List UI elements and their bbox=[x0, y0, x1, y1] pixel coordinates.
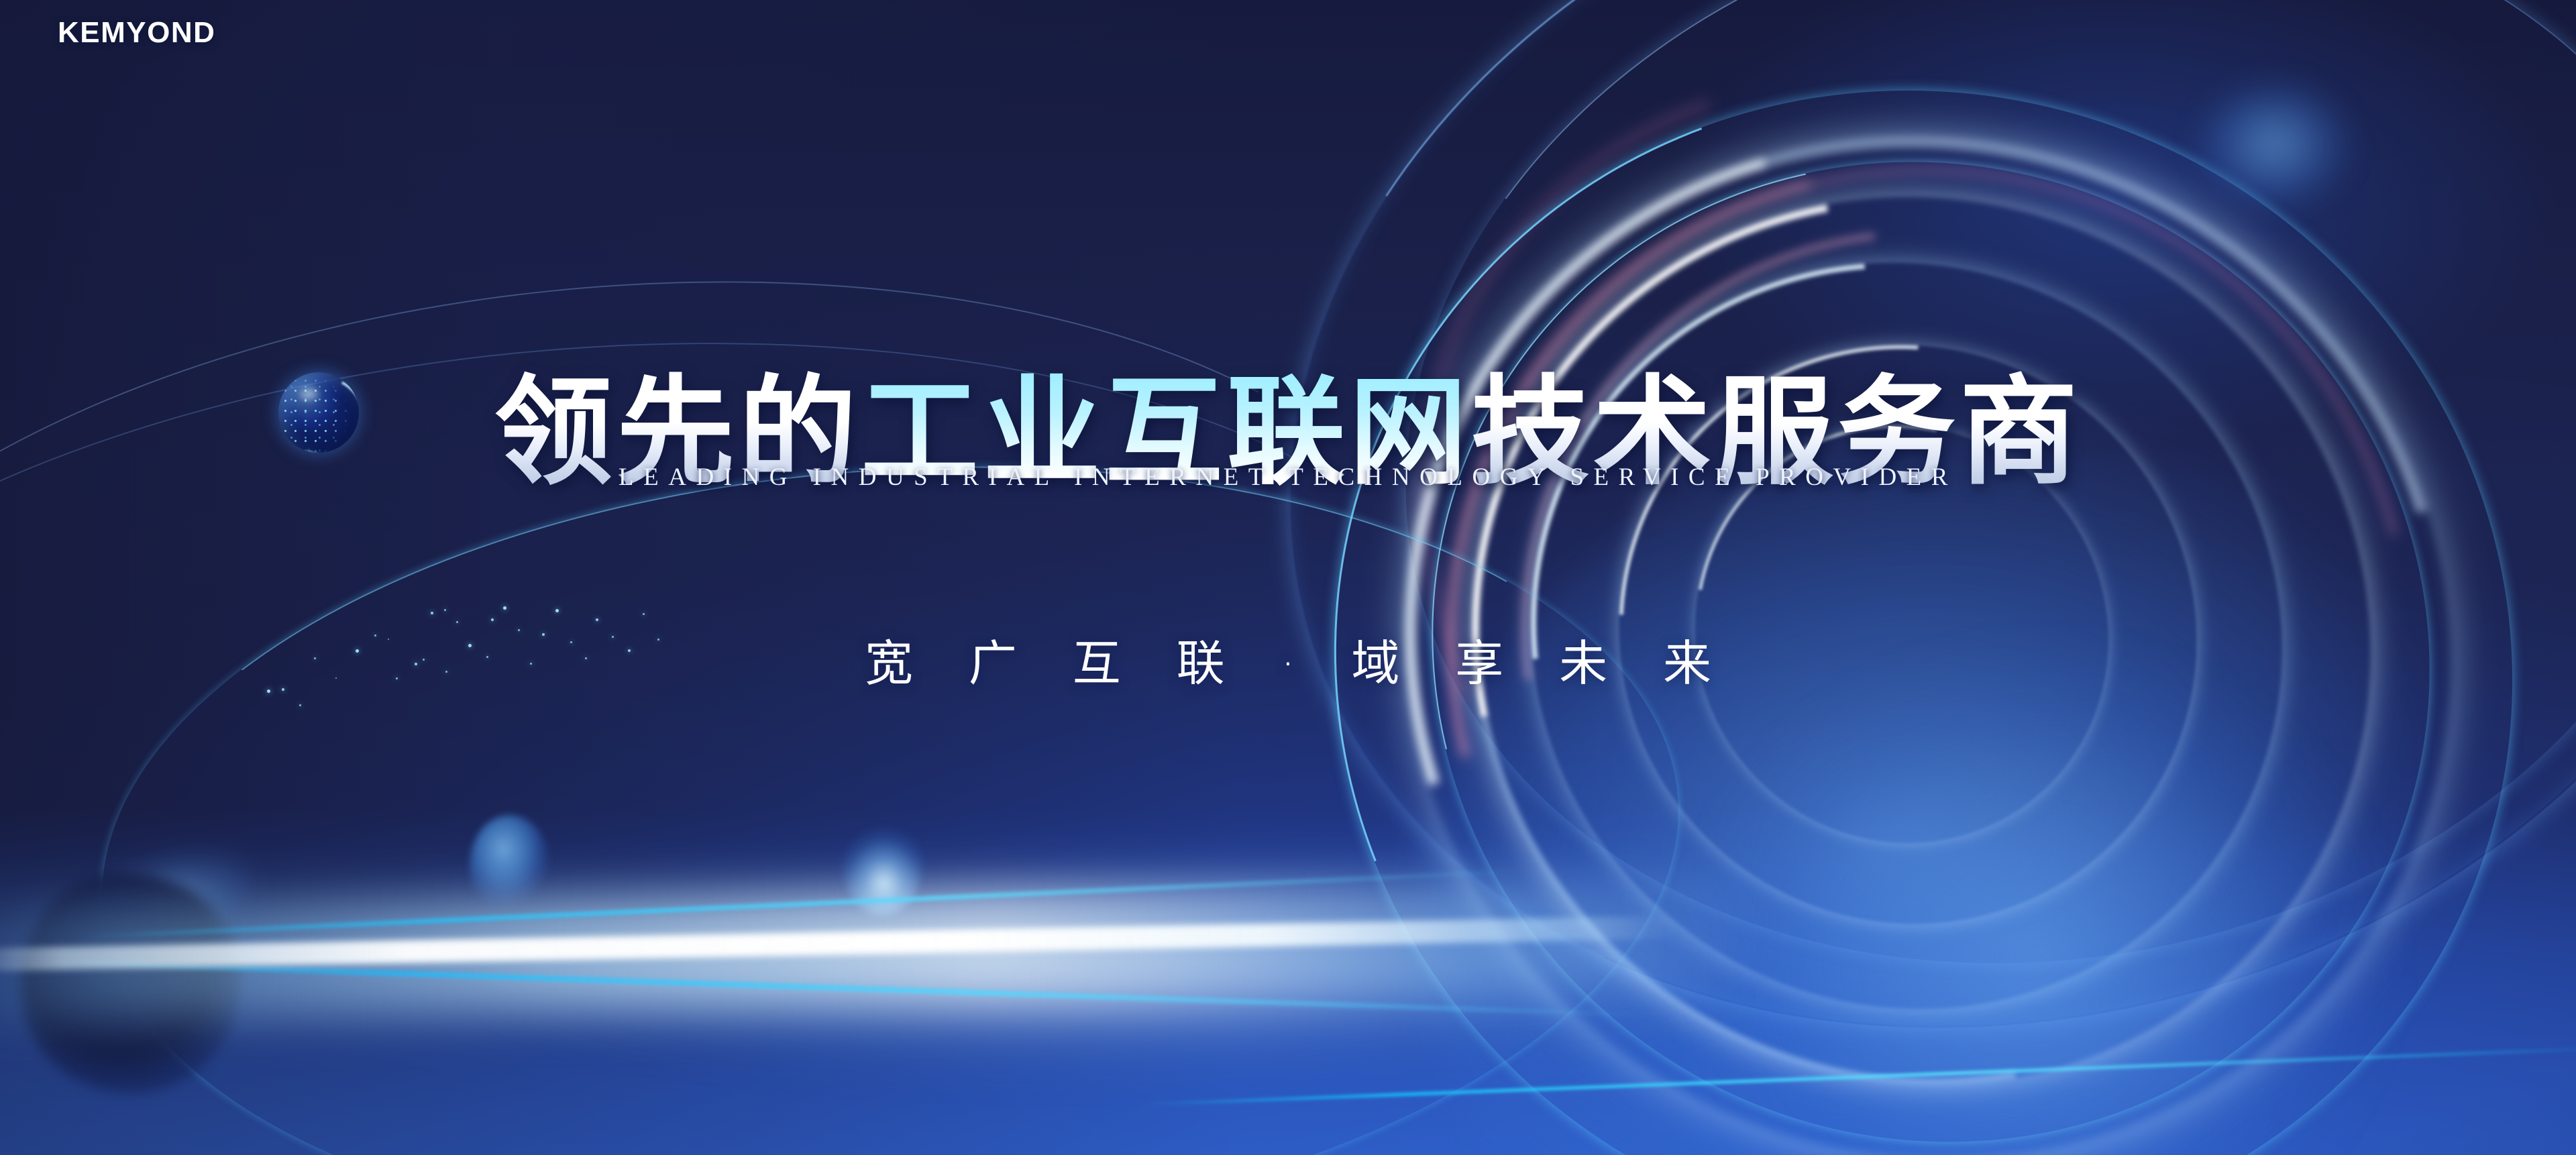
hero-subtitle: LEADING INDUSTRIAL INTERNET TECHNOLOGY S… bbox=[0, 463, 2576, 492]
banner-canvas: KEMYOND 领先的工业互联网技术服务商 LEADING INDUSTRIAL… bbox=[0, 0, 2576, 1155]
brand-logo[interactable]: KEMYOND bbox=[58, 16, 215, 50]
hero-tagline: 宽 广 互 联 · 域 享 未 来 bbox=[0, 624, 2576, 694]
